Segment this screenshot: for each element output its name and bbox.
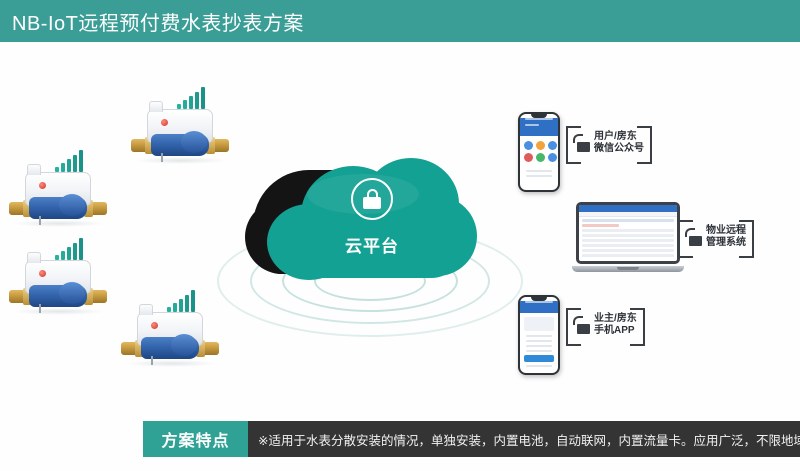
endpoint-label-owner-app: 业主/房东 手机APP [566,308,645,342]
meter-knob [149,101,163,112]
endpoint-label-line1: 用户/房东 [594,131,637,142]
meter-valve [151,134,209,156]
signal-strength-icon [55,238,83,260]
cloud-platform-group: 云平台 [215,152,525,342]
water-meter-4 [115,290,227,368]
lock-icon [351,178,393,220]
signal-strength-icon [167,290,195,312]
signal-strength-icon [55,150,83,172]
meter-stem [161,153,163,162]
meter-knob [27,252,41,263]
diagram-canvas: 云平台 用户/房东 微信公众号 [0,42,800,471]
meter-stem [39,216,41,225]
open-lock-icon [575,134,590,152]
meter-knob [139,304,153,315]
endpoint-label-line1: 业主/房东 [594,313,637,324]
phone-notch [531,114,547,118]
phone-notch [531,297,547,301]
meter-indicator-dot [151,322,158,329]
phone-app-grid [520,136,558,167]
phone-app-action-bar [524,355,554,362]
meter-valve [29,285,87,307]
cloud-shape: 云平台 [267,158,477,280]
meter-knob [27,164,41,175]
meter-shadow [13,308,105,315]
open-lock-icon [575,316,590,334]
signal-strength-icon [177,87,205,109]
phone-app-header [520,118,558,136]
feature-banner-tag: 方案特点 [143,421,248,457]
meter-indicator-dot [39,182,46,189]
meter-stem [151,356,153,365]
water-meter-3 [3,238,115,316]
meter-indicator-dot [161,119,168,126]
meter-stem [39,304,41,313]
page-header: NB-IoT远程预付费水表抄表方案 [0,0,800,42]
meter-shadow [13,220,105,227]
meter-valve [29,197,87,219]
wechat-phone-device [518,112,560,192]
management-laptop-device [572,202,684,274]
water-meter-2 [3,150,115,228]
page-title: NB-IoT远程预付费水表抄表方案 [0,7,304,36]
feature-banner: 方案特点 ※适用于水表分散安装的情况，单独安装，内置电池，自动联网，内置流量卡。… [143,421,800,457]
laptop-base [572,266,684,272]
endpoint-label-line1: 物业远程 [706,225,746,236]
endpoint-label-line2: 手机APP [594,325,635,336]
laptop-app-topbar [579,205,677,212]
phone-app-header [520,301,558,313]
phone-app-card [524,317,554,331]
meter-valve [141,337,199,359]
meter-indicator-dot [39,270,46,277]
owner-app-phone-device [518,295,560,375]
cloud-platform-label: 云平台 [267,232,477,257]
endpoint-label-line2: 微信公众号 [594,143,644,154]
laptop-data-table [579,217,677,261]
meter-shadow [135,157,227,164]
meter-shadow [125,360,217,367]
feature-banner-description: ※适用于水表分散安装的情况，单独安装，内置电池，自动联网，内置流量卡。应用广泛，… [248,430,800,449]
endpoint-label-line2: 管理系统 [706,237,746,248]
open-lock-icon [687,228,702,246]
endpoint-label-wechat: 用户/房东 微信公众号 [566,126,652,160]
endpoint-label-management: 物业远程 管理系统 [678,220,754,254]
